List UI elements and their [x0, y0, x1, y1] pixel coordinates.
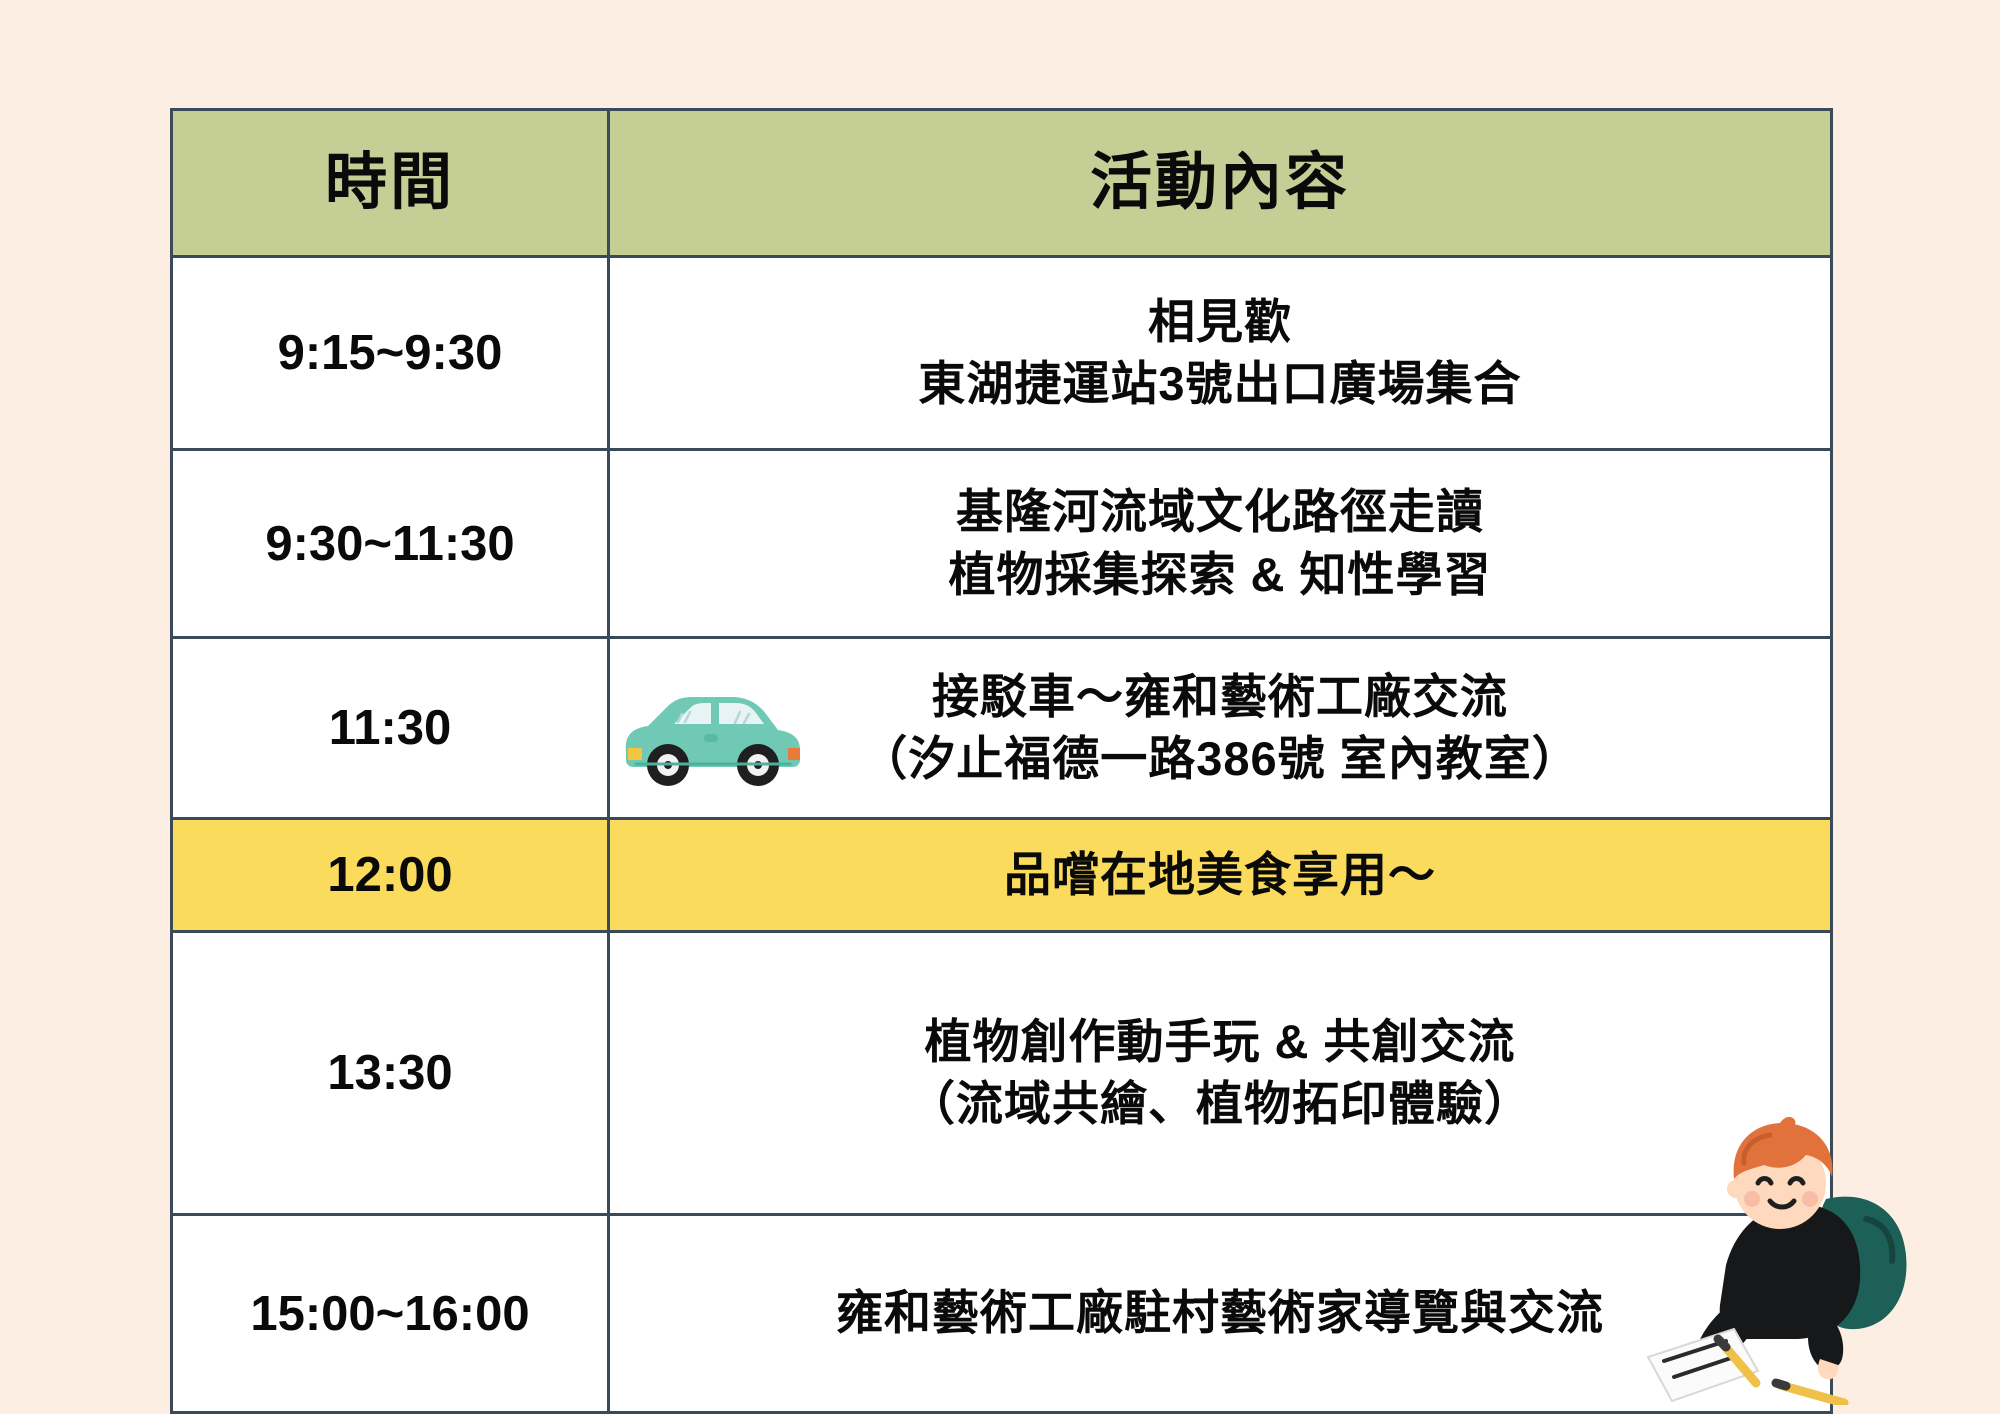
table-row: 13:30 植物創作動手玩 & 共創交流 （流域共繪、植物拓印體驗） [172, 932, 1832, 1215]
content-line: 品嚐在地美食享用～ [610, 844, 1830, 906]
header-cell-time: 時間 [172, 110, 609, 257]
content-cell: 接駁車～雍和藝術工廠交流 （汐止福德一路386號 室內教室） [609, 638, 1832, 819]
table-row-highlighted: 12:00 品嚐在地美食享用～ [172, 819, 1832, 932]
table-row: 9:15~9:30 相見歡 東湖捷運站3號出口廣場集合 [172, 257, 1832, 450]
time-cell: 9:30~11:30 [172, 450, 609, 638]
content-cell: 雍和藝術工廠駐村藝術家導覽與交流 [609, 1215, 1832, 1413]
content-line: 東湖捷運站3號出口廣場集合 [610, 353, 1830, 415]
table-header-row: 時間 活動內容 [172, 110, 1832, 257]
header-label-content: 活動內容 [610, 152, 1830, 214]
content-cell: 相見歡 東湖捷運站3號出口廣場集合 [609, 257, 1832, 450]
time-cell: 13:30 [172, 932, 609, 1215]
content-cell: 基隆河流域文化路徑走讀 植物採集探索 & 知性學習 [609, 450, 1832, 638]
poster-page: 時間 活動內容 9:15~9:30 相見歡 東湖捷運站3號出口廣場集合 9:30… [0, 0, 2000, 1414]
content-line: 植物採集探索 & 知性學習 [610, 544, 1830, 606]
table-row: 15:00~16:00 雍和藝術工廠駐村藝術家導覽與交流 [172, 1215, 1832, 1413]
content-line: 接駁車～雍和藝術工廠交流 [610, 666, 1830, 728]
schedule-table: 時間 活動內容 9:15~9:30 相見歡 東湖捷運站3號出口廣場集合 9:30… [170, 108, 1833, 1414]
content-cell: 品嚐在地美食享用～ [609, 819, 1832, 932]
content-line: 相見歡 [610, 291, 1830, 353]
table-row: 9:30~11:30 基隆河流域文化路徑走讀 植物採集探索 & 知性學習 [172, 450, 1832, 638]
content-line: 植物創作動手玩 & 共創交流 [610, 1011, 1830, 1073]
time-cell: 15:00~16:00 [172, 1215, 609, 1413]
content-cell: 植物創作動手玩 & 共創交流 （流域共繪、植物拓印體驗） [609, 932, 1832, 1215]
content-line: （汐止福德一路386號 室內教室） [610, 728, 1830, 790]
table-row: 11:30 接駁車～雍和藝術工廠交流 （汐止福德一路386號 室內教室） [172, 638, 1832, 819]
content-line: 基隆河流域文化路徑走讀 [610, 481, 1830, 543]
time-cell: 9:15~9:30 [172, 257, 609, 450]
content-line: （流域共繪、植物拓印體驗） [610, 1073, 1830, 1135]
content-line: 雍和藝術工廠駐村藝術家導覽與交流 [610, 1282, 1830, 1344]
header-cell-content: 活動內容 [609, 110, 1832, 257]
header-label-time: 時間 [173, 152, 607, 214]
time-cell: 11:30 [172, 638, 609, 819]
time-cell: 12:00 [172, 819, 609, 932]
